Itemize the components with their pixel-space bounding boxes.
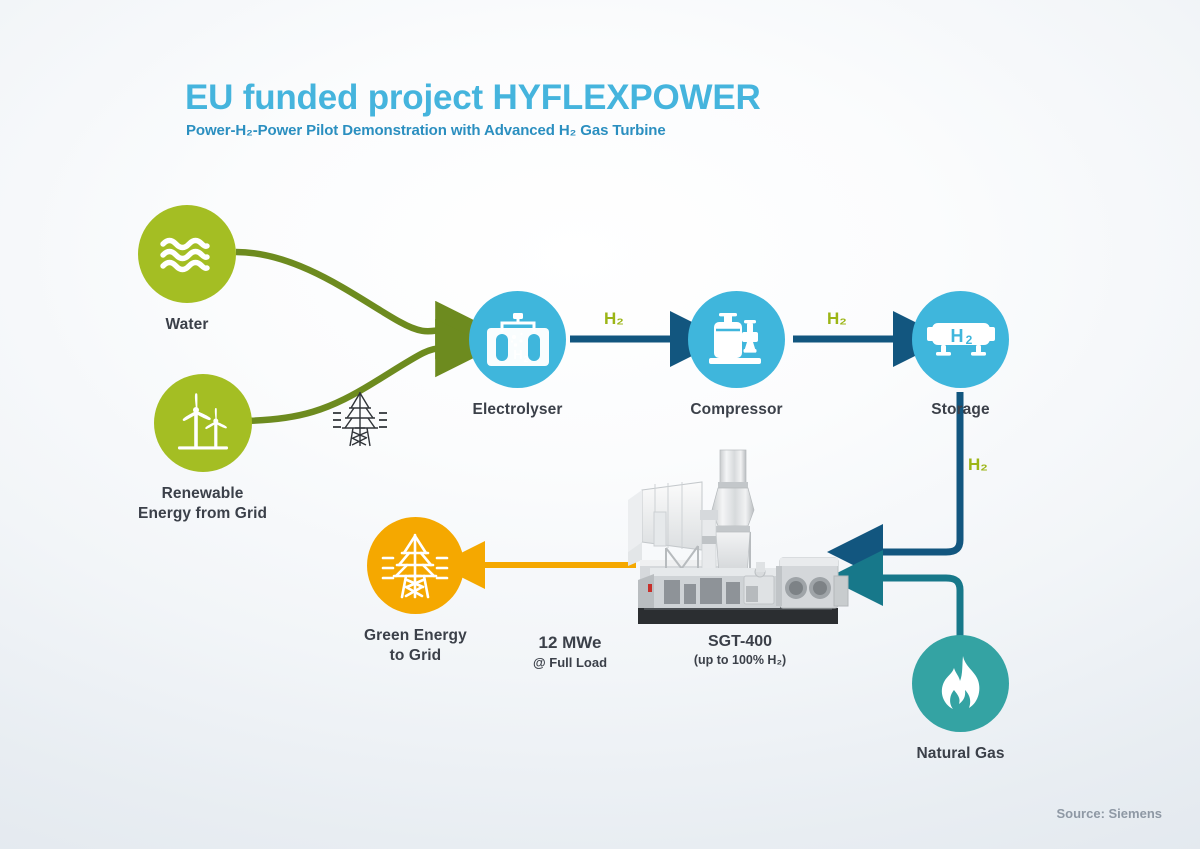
power-pylon-icon bbox=[379, 531, 451, 601]
svg-text:2: 2 bbox=[523, 355, 528, 364]
node-renewable-energy[interactable]: Renewable Energy from Grid bbox=[138, 374, 267, 524]
node-electrolyser-label: Electrolyser bbox=[473, 400, 563, 420]
node-green-energy-label: Green Energy to Grid bbox=[364, 626, 467, 666]
node-electrolyser[interactable]: H 2 Electrolyser bbox=[469, 291, 566, 420]
h2-tank-icon: H 2 bbox=[926, 317, 996, 363]
page-subtitle: Power-H₂-Power Pilot Demonstration with … bbox=[186, 122, 666, 139]
node-water-label: Water bbox=[166, 315, 209, 335]
node-storage[interactable]: H 2 Storage bbox=[912, 291, 1009, 420]
node-renewable-label: Renewable Energy from Grid bbox=[138, 484, 267, 524]
node-water[interactable]: Water bbox=[138, 205, 236, 335]
infographic-canvas: EU funded project HYFLEXPOWER Power-H₂-P… bbox=[0, 0, 1200, 849]
node-compressor[interactable]: Compressor bbox=[688, 291, 785, 420]
source-credit: Source: Siemens bbox=[1057, 806, 1163, 821]
green-energy-circle bbox=[367, 517, 464, 614]
h2-label-compressor-storage: H₂ bbox=[827, 309, 847, 329]
electrolyser-icon: H 2 bbox=[487, 310, 549, 370]
turbine-name: SGT-400 bbox=[630, 633, 850, 651]
water-circle bbox=[138, 205, 236, 303]
flame-icon bbox=[935, 654, 987, 714]
h2-label-storage-turbine: H₂ bbox=[968, 455, 988, 475]
node-natural-gas-label: Natural Gas bbox=[916, 744, 1004, 764]
node-storage-label: Storage bbox=[931, 400, 989, 420]
power-output-annotation: 12 MWe @ Full Load bbox=[510, 633, 630, 670]
storage-circle: H 2 bbox=[912, 291, 1009, 388]
natural-gas-circle bbox=[912, 635, 1009, 732]
compressor-circle bbox=[688, 291, 785, 388]
electrolyser-circle: H 2 bbox=[469, 291, 566, 388]
h2-label-electrolyser-compressor: H₂ bbox=[604, 309, 624, 329]
transmission-pylon-icon bbox=[325, 388, 395, 450]
svg-text:H: H bbox=[513, 347, 522, 362]
power-output-value: 12 MWe bbox=[510, 633, 630, 653]
svg-text:2: 2 bbox=[965, 333, 972, 347]
wind-turbine-icon bbox=[170, 390, 236, 456]
page-title: EU funded project HYFLEXPOWER bbox=[185, 78, 761, 118]
power-output-condition: @ Full Load bbox=[510, 655, 630, 670]
turbine-caption: SGT-400 (up to 100% H₂) bbox=[630, 633, 850, 667]
turbine-spec: (up to 100% H₂) bbox=[630, 653, 850, 667]
connector-water-to-electrolyser bbox=[236, 252, 443, 331]
renewable-circle bbox=[154, 374, 252, 472]
water-waves-icon bbox=[158, 232, 216, 276]
gas-turbine-photo bbox=[620, 440, 860, 640]
node-compressor-label: Compressor bbox=[690, 400, 782, 420]
connector-gas-to-turbine bbox=[876, 578, 960, 636]
compressor-icon bbox=[706, 310, 768, 370]
node-natural-gas[interactable]: Natural Gas bbox=[912, 635, 1009, 764]
node-green-energy-to-grid[interactable]: Green Energy to Grid bbox=[364, 517, 467, 666]
svg-text:H: H bbox=[950, 326, 963, 346]
